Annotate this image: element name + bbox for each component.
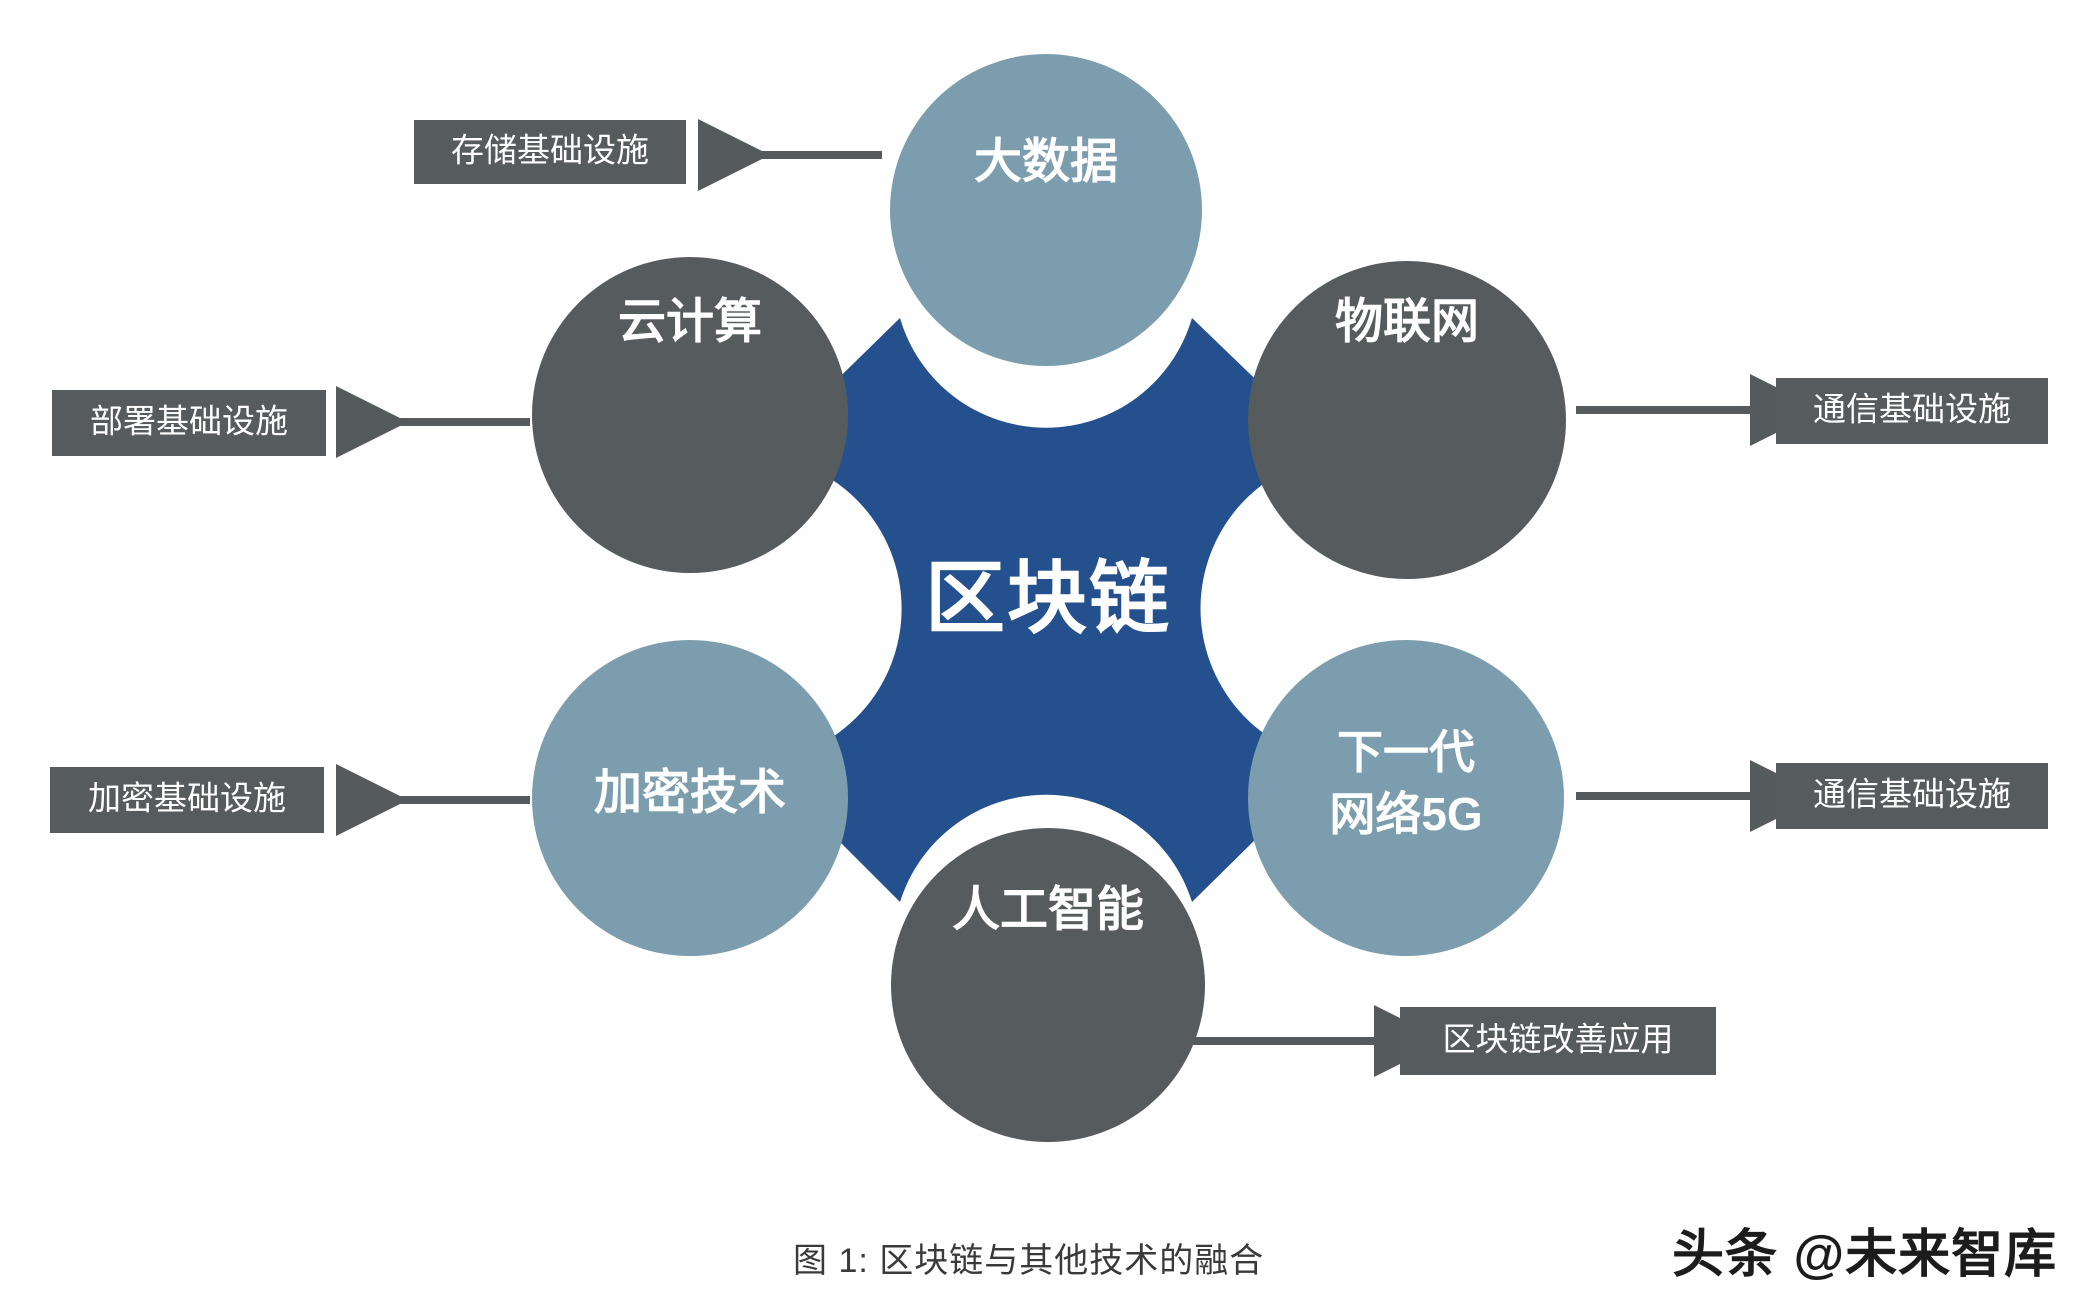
ai-label: 人工智能 bbox=[952, 884, 1144, 937]
figure-canvas: 区块链 大数据 云计算 物联网 加密技术 下一代 网络5G 人工智能 bbox=[0, 0, 2100, 1316]
tag-storage-infrastructure[interactable]: 存储基础设施 bbox=[414, 120, 686, 184]
figure-caption: 图 1: 区块链与其他技术的融合 bbox=[793, 1233, 1264, 1282]
cloud-computing-label: 云计算 bbox=[618, 296, 762, 349]
tag-encryption-infrastructure-label: 加密基础设施 bbox=[88, 780, 286, 817]
big-data-label: 大数据 bbox=[974, 136, 1118, 189]
watermark: 头条 @未来智库 bbox=[1672, 1212, 2057, 1287]
tag-communication-infrastructure-top-label: 通信基础设施 bbox=[1813, 391, 2011, 428]
tag-communication-infrastructure-top[interactable]: 通信基础设施 bbox=[1776, 378, 2048, 444]
tag-communication-infrastructure-bottom[interactable]: 通信基础设施 bbox=[1776, 763, 2048, 829]
tag-communication-infrastructure-bottom-label: 通信基础设施 bbox=[1813, 776, 2011, 813]
satellite-node-iot[interactable]: 物联网 bbox=[1248, 261, 1566, 579]
big-data-circle bbox=[890, 54, 1202, 366]
tag-storage-infrastructure-label: 存储基础设施 bbox=[451, 132, 649, 169]
tag-encryption-infrastructure[interactable]: 加密基础设施 bbox=[50, 767, 324, 833]
encryption-label: 加密技术 bbox=[594, 767, 786, 820]
iot-label: 物联网 bbox=[1335, 296, 1479, 349]
5g-network-label-line2: 网络5G bbox=[1329, 788, 1482, 840]
satellite-node-cloud-computing[interactable]: 云计算 bbox=[532, 257, 848, 573]
blockchain-convergence-diagram: 区块链 大数据 云计算 物联网 加密技术 下一代 网络5G 人工智能 bbox=[0, 0, 2100, 1316]
satellite-node-big-data[interactable]: 大数据 bbox=[890, 54, 1202, 366]
hub-label: 区块链 bbox=[925, 554, 1171, 643]
tag-deployment-infrastructure-label: 部署基础设施 bbox=[90, 403, 288, 440]
5g-network-label-line1: 下一代 bbox=[1337, 726, 1475, 778]
satellite-node-encryption[interactable]: 加密技术 bbox=[532, 640, 848, 956]
tag-deployment-infrastructure[interactable]: 部署基础设施 bbox=[52, 390, 326, 456]
satellite-node-5g-network[interactable]: 下一代 网络5G bbox=[1248, 640, 1564, 956]
tag-blockchain-improved-applications-label: 区块链改善应用 bbox=[1443, 1021, 1674, 1058]
ai-circle bbox=[891, 828, 1205, 1142]
satellite-node-ai[interactable]: 人工智能 bbox=[891, 828, 1205, 1142]
tag-blockchain-improved-applications[interactable]: 区块链改善应用 bbox=[1400, 1007, 1716, 1075]
